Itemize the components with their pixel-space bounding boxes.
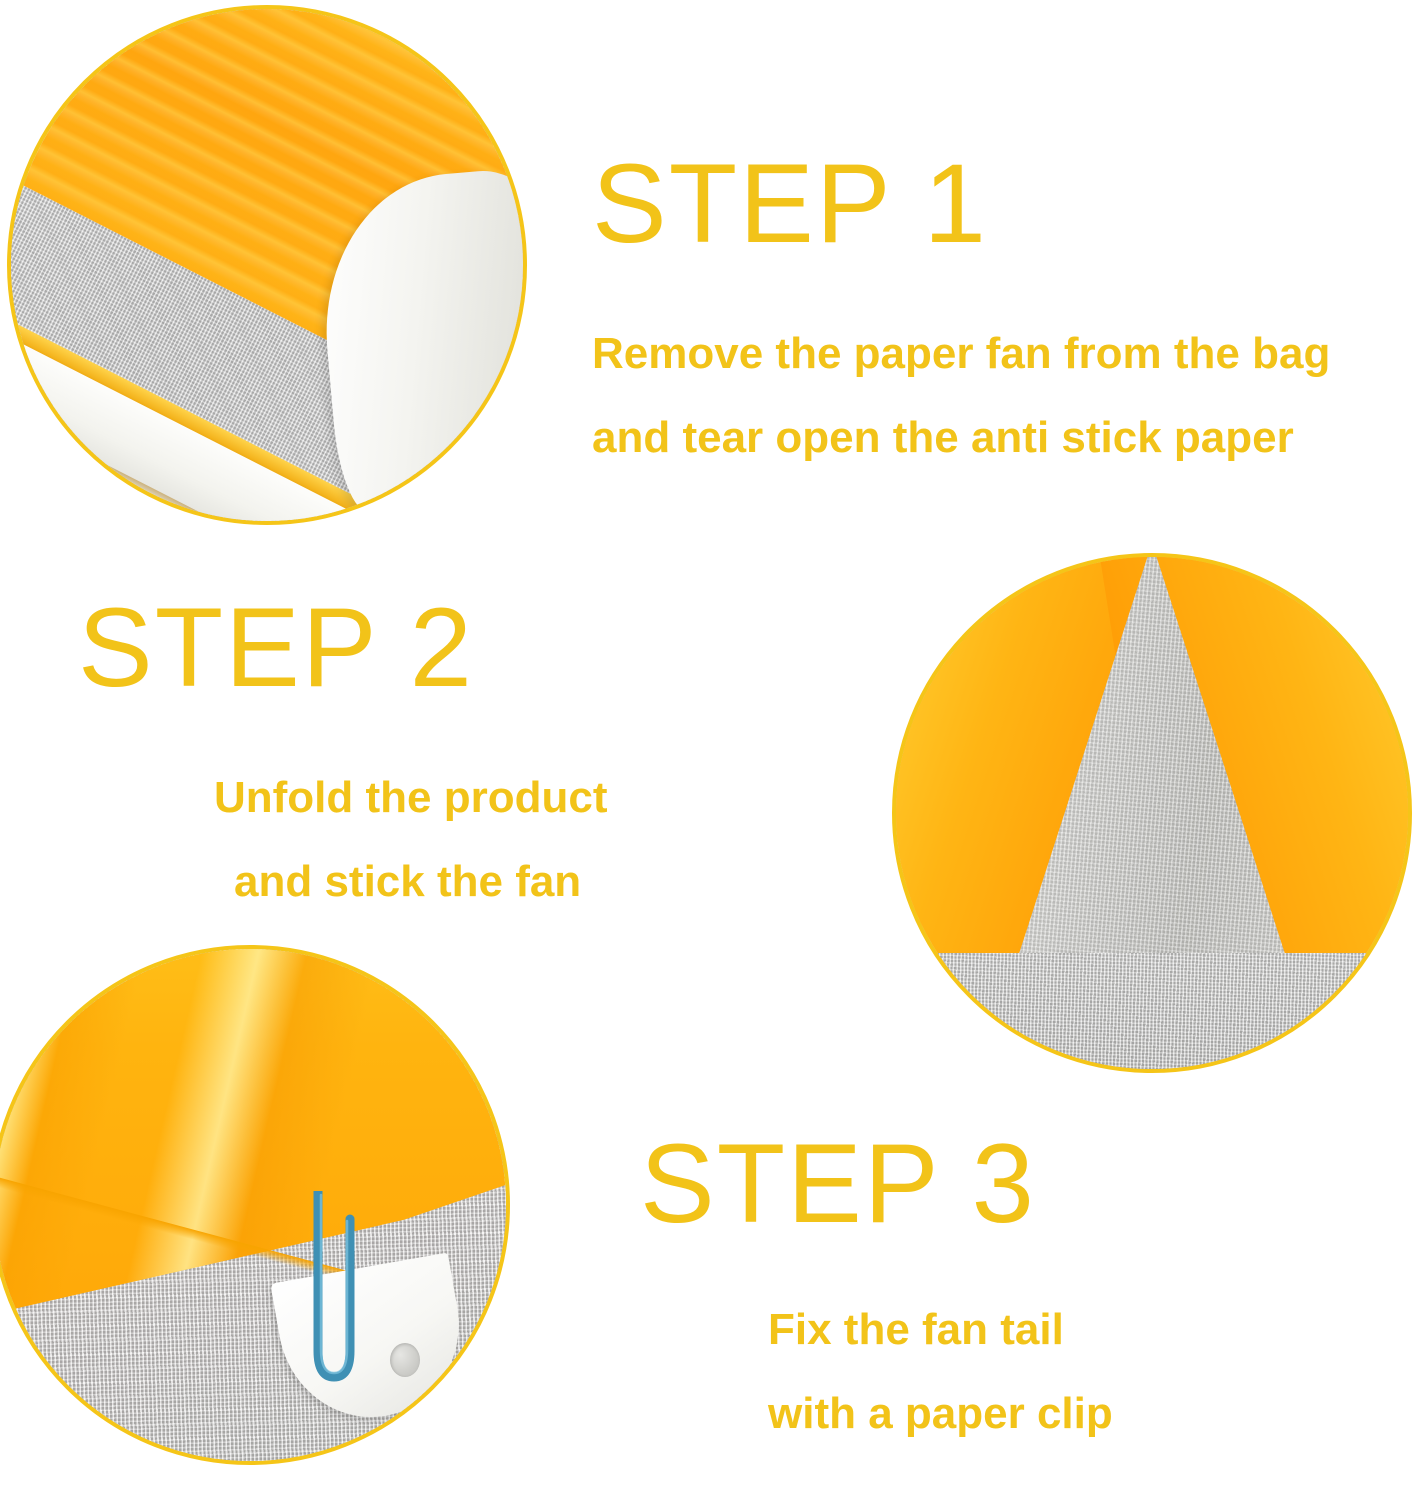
step-1-line-1: Remove the paper fan from the bag — [592, 332, 1330, 376]
step-2-text-block: STEP 2 Unfold the product and stick the … — [78, 592, 608, 904]
step-3-photo-circle: Yellow fan tail secured to a white tab w… — [0, 945, 510, 1465]
step-3-title: STEP 3 — [640, 1128, 1113, 1240]
step-3-photo-content — [0, 945, 510, 1465]
step-1-line-2: and tear open the anti stick paper — [592, 416, 1330, 460]
step-3-line-2: with a paper clip — [768, 1392, 1113, 1436]
instruction-poster: Close-up of a pleated yellow paper fan w… — [0, 0, 1427, 1500]
step-2-photo-circle: Unfolded yellow fan panels opened around… — [892, 553, 1412, 1073]
step-1-text-block: STEP 1 Remove the paper fan from the bag… — [592, 148, 1330, 460]
step-2-photo-content — [892, 553, 1412, 1073]
step-3-line-1: Fix the fan tail — [768, 1308, 1113, 1352]
bottom-fabric-surface — [892, 953, 1412, 1073]
step-1-photo-content — [7, 5, 527, 525]
step-2-line-2: and stick the fan — [234, 860, 608, 904]
step-1-title: STEP 1 — [592, 148, 1330, 260]
step-2-title: STEP 2 — [78, 592, 608, 704]
step-2-line-1: Unfold the product — [214, 776, 608, 820]
tab-hole — [390, 1343, 420, 1377]
step-1-photo-circle: Close-up of a pleated yellow paper fan w… — [7, 5, 527, 525]
blue-paper-clip — [308, 1191, 356, 1391]
step-3-text-block: STEP 3 Fix the fan tail with a paper cli… — [640, 1128, 1113, 1436]
